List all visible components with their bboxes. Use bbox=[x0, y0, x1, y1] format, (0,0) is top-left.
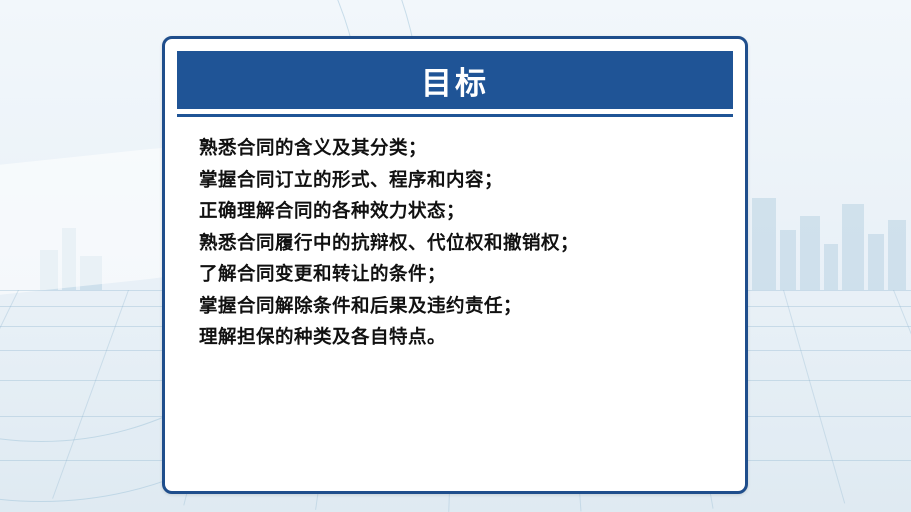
slide-title-bar: 目标 bbox=[177, 51, 733, 109]
list-item: 掌握合同订立的形式、程序和内容； bbox=[199, 165, 733, 197]
content-card: 目标 熟悉合同的含义及其分类； 掌握合同订立的形式、程序和内容； 正确理解合同的… bbox=[162, 36, 748, 494]
title-divider bbox=[177, 114, 733, 117]
list-item: 熟悉合同履行中的抗辩权、代位权和撤销权； bbox=[199, 228, 733, 260]
objectives-list: 熟悉合同的含义及其分类； 掌握合同订立的形式、程序和内容； 正确理解合同的各种效… bbox=[177, 133, 733, 354]
list-item: 掌握合同解除条件和后果及违约责任； bbox=[199, 291, 733, 323]
list-item: 熟悉合同的含义及其分类； bbox=[199, 133, 733, 165]
content-card-inner: 目标 熟悉合同的含义及其分类； 掌握合同订立的形式、程序和内容； 正确理解合同的… bbox=[177, 51, 733, 479]
presentation-slide: 目标 熟悉合同的含义及其分类； 掌握合同订立的形式、程序和内容； 正确理解合同的… bbox=[0, 0, 911, 512]
list-item: 正确理解合同的各种效力状态； bbox=[199, 196, 733, 228]
page-title: 目标 bbox=[421, 58, 489, 103]
list-item: 理解担保的种类及各自特点。 bbox=[199, 322, 733, 354]
list-item: 了解合同变更和转让的条件； bbox=[199, 259, 733, 291]
